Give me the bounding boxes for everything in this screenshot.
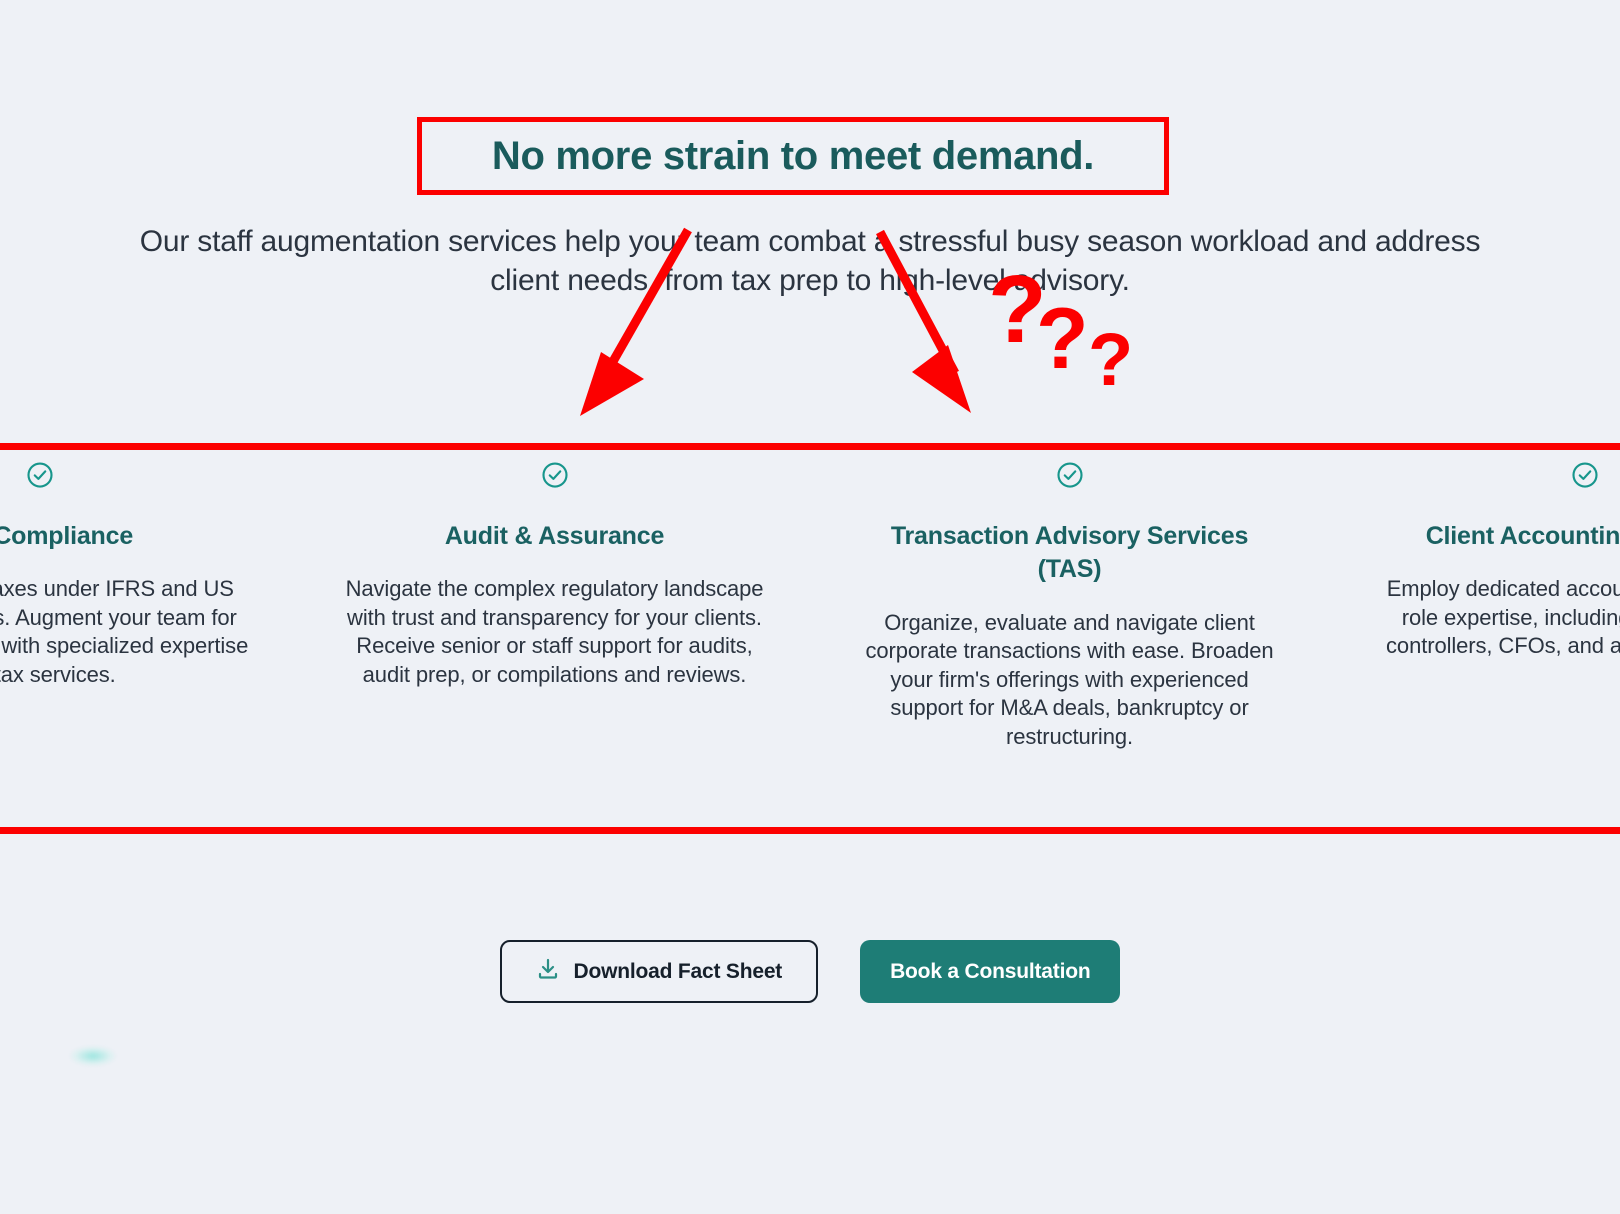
decorative-blob <box>70 1046 116 1066</box>
check-circle-icon <box>1375 452 1620 498</box>
service-card-body: Prepare client taxes under IFRS and US G… <box>0 575 249 689</box>
service-card[interactable]: Tax Compliance Prepare client taxes unde… <box>0 452 297 824</box>
check-circle-icon <box>860 452 1279 498</box>
service-card-title: Audit & Assurance <box>345 520 764 553</box>
download-fact-sheet-button[interactable]: Download Fact Sheet <box>500 940 819 1003</box>
service-card-title: Transaction Advisory Services (TAS) <box>860 520 1279 587</box>
annotation-rule-bottom <box>0 827 1620 834</box>
headline-highlight-box: No more strain to meet demand. <box>417 117 1169 195</box>
check-circle-icon <box>0 452 249 498</box>
page-title: No more strain to meet demand. <box>492 134 1094 179</box>
hero-section: No more strain to meet demand. Our staff… <box>0 0 1620 440</box>
book-consultation-label: Book a Consultation <box>890 960 1090 984</box>
download-icon <box>536 957 560 987</box>
service-card-body: Organize, evaluate and navigate client c… <box>860 609 1279 752</box>
book-consultation-button[interactable]: Book a Consultation <box>860 940 1120 1003</box>
service-card-carousel[interactable]: Tax Compliance Prepare client taxes unde… <box>0 452 1620 824</box>
service-card-title: Client Accounting Services <box>1375 520 1620 553</box>
service-card[interactable]: Transaction Advisory Services (TAS) Orga… <box>812 452 1327 824</box>
service-card-body: Navigate the complex regulatory landscap… <box>345 575 764 689</box>
service-card-body: Employ dedicated accounting staff in any… <box>1375 575 1620 661</box>
cta-button-row: Download Fact Sheet Book a Consultation <box>0 940 1620 1003</box>
annotation-rule-top <box>0 443 1620 450</box>
service-card[interactable]: Audit & Assurance Navigate the complex r… <box>297 452 812 824</box>
download-fact-sheet-label: Download Fact Sheet <box>574 960 783 984</box>
hero-subhead: Our staff augmentation services help you… <box>110 222 1510 300</box>
service-card-title: Tax Compliance <box>0 520 249 553</box>
check-circle-icon <box>345 452 764 498</box>
service-card[interactable]: Client Accounting Services Employ dedica… <box>1327 452 1620 824</box>
